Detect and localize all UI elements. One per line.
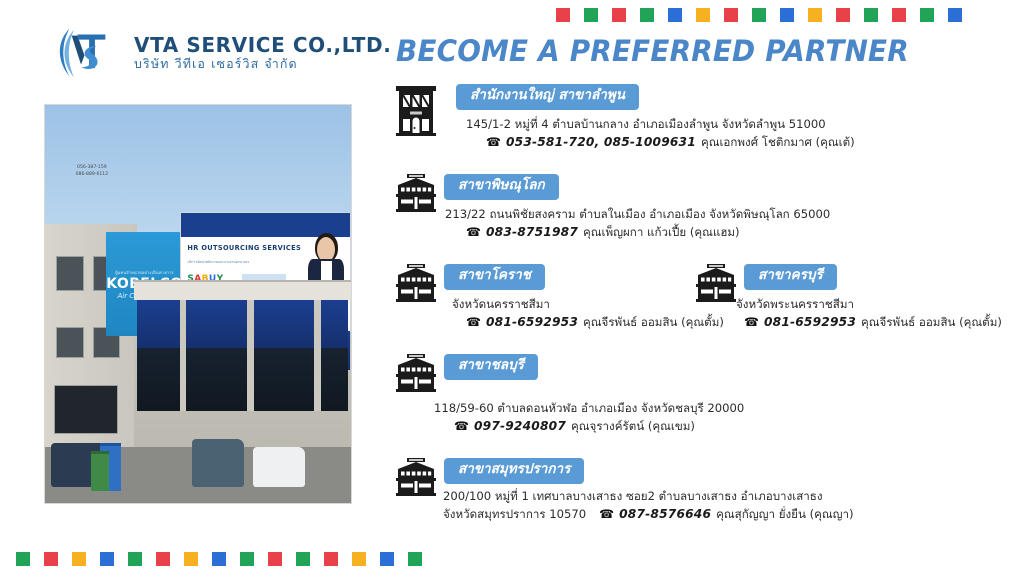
color-square-green xyxy=(920,8,934,22)
branch-badge: สาขาสมุทรปราการ xyxy=(444,458,584,484)
branch-phone-line: จังหวัดสมุทรปราการ 10570 ☎ 087-8576646 ค… xyxy=(443,505,994,525)
phone-icon: ☎ xyxy=(744,313,759,332)
color-square-red xyxy=(556,8,570,22)
company-logo-block: VTA SERVICE CO.,LTD. บริษัท วีทีเอ เซอร์… xyxy=(52,22,352,84)
kobelco-sign-small-text: ผู้แทนจำหน่ายอย่างเป็นทางการ xyxy=(115,269,173,276)
color-square-blue xyxy=(948,8,962,22)
branch-phone-line: ☎ 053-581-720, 085-1009631 คุณเอกพงศ์ โช… xyxy=(486,133,994,153)
billboard-heading: HR OUTSOURCING SERVICES xyxy=(187,244,301,252)
company-name-block: VTA SERVICE CO.,LTD. บริษัท วีทีเอ เซอร์… xyxy=(134,34,391,72)
color-square-blue xyxy=(380,552,394,566)
branch-block-khonburi: สาขาครบุรี จังหวัดพระนครราชสีมา ☎ 081-65… xyxy=(694,264,1014,333)
branch-badge: สาขาพิษณุโลก xyxy=(444,174,559,200)
vta-monogram-logo-icon xyxy=(52,24,110,82)
branch-phone: 053-581-720, 085-1009631 xyxy=(506,133,696,153)
office-building-photo: ผู้แทนจำหน่ายอย่างเป็นทางการ KOBELCO Air… xyxy=(44,104,352,504)
bottom-color-bar xyxy=(16,552,436,566)
branch-contact: คุณจุรางค์รัตน์ (คุณเขม) xyxy=(571,417,695,436)
color-square-yellow xyxy=(696,8,710,22)
billboard-subheading: บริการจัดหาพนักงานและแรงงานครบวงจร xyxy=(187,260,249,265)
color-square-blue xyxy=(668,8,682,22)
top-color-bar xyxy=(556,8,976,22)
office-building-icon xyxy=(394,84,438,140)
poster-canvas: VTA SERVICE CO.,LTD. บริษัท วีทีเอ เซอร์… xyxy=(0,0,1024,576)
color-square-red xyxy=(724,8,738,22)
photo-trash-bin xyxy=(91,451,109,491)
branch-address: จังหวัดพระนครราชสีมา xyxy=(736,296,1014,314)
branch-contact: คุณเอกพงศ์ โชติกมาศ (คุณเต้) xyxy=(701,133,855,152)
branch-contact: คุณสุกัญญา ยั่งยืน (คุณญา) xyxy=(716,505,853,524)
phone-icon: ☎ xyxy=(486,133,501,152)
photo-wall-phone: 056-387-159086-889-6112 xyxy=(76,165,109,179)
color-square-green xyxy=(16,552,30,566)
branch-phone: 081-6592953 xyxy=(764,313,856,333)
branch-phone-line: ☎ 097-9240807 คุณจุรางค์รัตน์ (คุณเขม) xyxy=(454,417,994,437)
color-square-red xyxy=(892,8,906,22)
shop-building-icon xyxy=(394,458,438,500)
color-square-green xyxy=(128,552,142,566)
color-square-blue xyxy=(780,8,794,22)
color-square-yellow xyxy=(184,552,198,566)
phone-icon: ☎ xyxy=(466,223,481,242)
color-square-blue xyxy=(212,552,226,566)
branch-phone-line: ☎ 083-8751987 คุณเพ็ญผกา แก้วเปี้ย (คุณแ… xyxy=(466,223,994,243)
branch-badge: สาขาครบุรี xyxy=(744,264,837,290)
branch-phone: 087-8576646 xyxy=(619,505,711,525)
color-square-green xyxy=(240,552,254,566)
shop-building-icon xyxy=(394,174,438,216)
photo-awning xyxy=(134,280,351,300)
color-square-green xyxy=(296,552,310,566)
color-square-red xyxy=(44,552,58,566)
branch-badge: สาขาโคราช xyxy=(444,264,545,290)
branch-address: 213/22 ถนนพิชัยสงคราม ตำบลในเมือง อำเภอเ… xyxy=(445,206,994,224)
company-name-en: VTA SERVICE CO.,LTD. xyxy=(134,34,391,56)
photo-car xyxy=(253,447,305,487)
color-square-green xyxy=(864,8,878,22)
branch-phone: 083-8751987 xyxy=(486,223,578,243)
shop-building-icon xyxy=(694,264,738,306)
branch-block-chonburi: สาขาชลบุรี 118/59-60 ตำบลดอนหัวฬอ อำเภอเ… xyxy=(394,354,994,437)
shop-building-icon xyxy=(394,354,438,396)
branch-phone: 081-6592953 xyxy=(486,313,578,333)
color-square-blue xyxy=(100,552,114,566)
branch-address-line1: 200/100 หมู่ที่ 1 เทศบาลบางเสาธง ซอย2 ตำ… xyxy=(443,488,994,506)
color-square-green xyxy=(584,8,598,22)
branch-phone: 097-9240807 xyxy=(474,417,566,437)
phone-icon: ☎ xyxy=(599,505,614,524)
branch-phone-line: ☎ 081-6592953 คุณจีรพันธ์ ออมสิน (คุณตั้… xyxy=(744,313,1014,333)
shop-building-icon xyxy=(394,264,438,306)
branch-block-korat: สาขาโคราช จังหวัดนครราชสีมา ☎ 081-659295… xyxy=(394,264,694,333)
color-square-yellow xyxy=(72,552,86,566)
color-square-red xyxy=(156,552,170,566)
page-title: BECOME A PREFERRED PARTNER xyxy=(396,34,909,68)
phone-icon: ☎ xyxy=(454,417,469,436)
branch-badge: สำนักงานใหญ่ สาขาลำพูน xyxy=(456,84,639,110)
branch-address: จังหวัดนครราชสีมา xyxy=(452,296,694,314)
color-square-yellow xyxy=(808,8,822,22)
color-square-green xyxy=(752,8,766,22)
branch-address-line2: จังหวัดสมุทรปราการ 10570 xyxy=(443,506,586,524)
color-square-red xyxy=(836,8,850,22)
photo-car xyxy=(192,439,244,487)
branch-badge: สาขาชลบุรี xyxy=(444,354,538,380)
color-square-yellow xyxy=(352,552,366,566)
branch-address: 145/1-2 หมู่ที่ 4 ตำบลบ้านกลาง อำเภอเมือ… xyxy=(466,116,994,134)
branch-block-samutprakan: สาขาสมุทรปราการ 200/100 หมู่ที่ 1 เทศบาล… xyxy=(394,458,994,525)
branch-block-lamphun: สำนักงานใหญ่ สาขาลำพูน 145/1-2 หมู่ที่ 4… xyxy=(394,84,994,153)
company-name-th: บริษัท วีทีเอ เซอร์วิส จำกัด xyxy=(134,56,391,72)
phone-icon: ☎ xyxy=(466,313,481,332)
color-square-red xyxy=(612,8,626,22)
branch-phone-line: ☎ 081-6592953 คุณจีรพันธ์ ออมสิน (คุณตั้… xyxy=(466,313,694,333)
branch-address: 118/59-60 ตำบลดอนหัวฬอ อำเภอเมือง จังหวั… xyxy=(434,400,994,418)
branch-contact: คุณจีรพันธ์ ออมสิน (คุณตั้ม) xyxy=(861,313,1002,332)
color-square-red xyxy=(324,552,338,566)
branch-block-phitsanulok: สาขาพิษณุโลก 213/22 ถนนพิชัยสงคราม ตำบลใ… xyxy=(394,174,994,243)
branch-contact: คุณเพ็ญผกา แก้วเปี้ย (คุณแฮม) xyxy=(583,223,740,242)
color-square-green xyxy=(640,8,654,22)
color-square-red xyxy=(268,552,282,566)
color-square-green xyxy=(408,552,422,566)
